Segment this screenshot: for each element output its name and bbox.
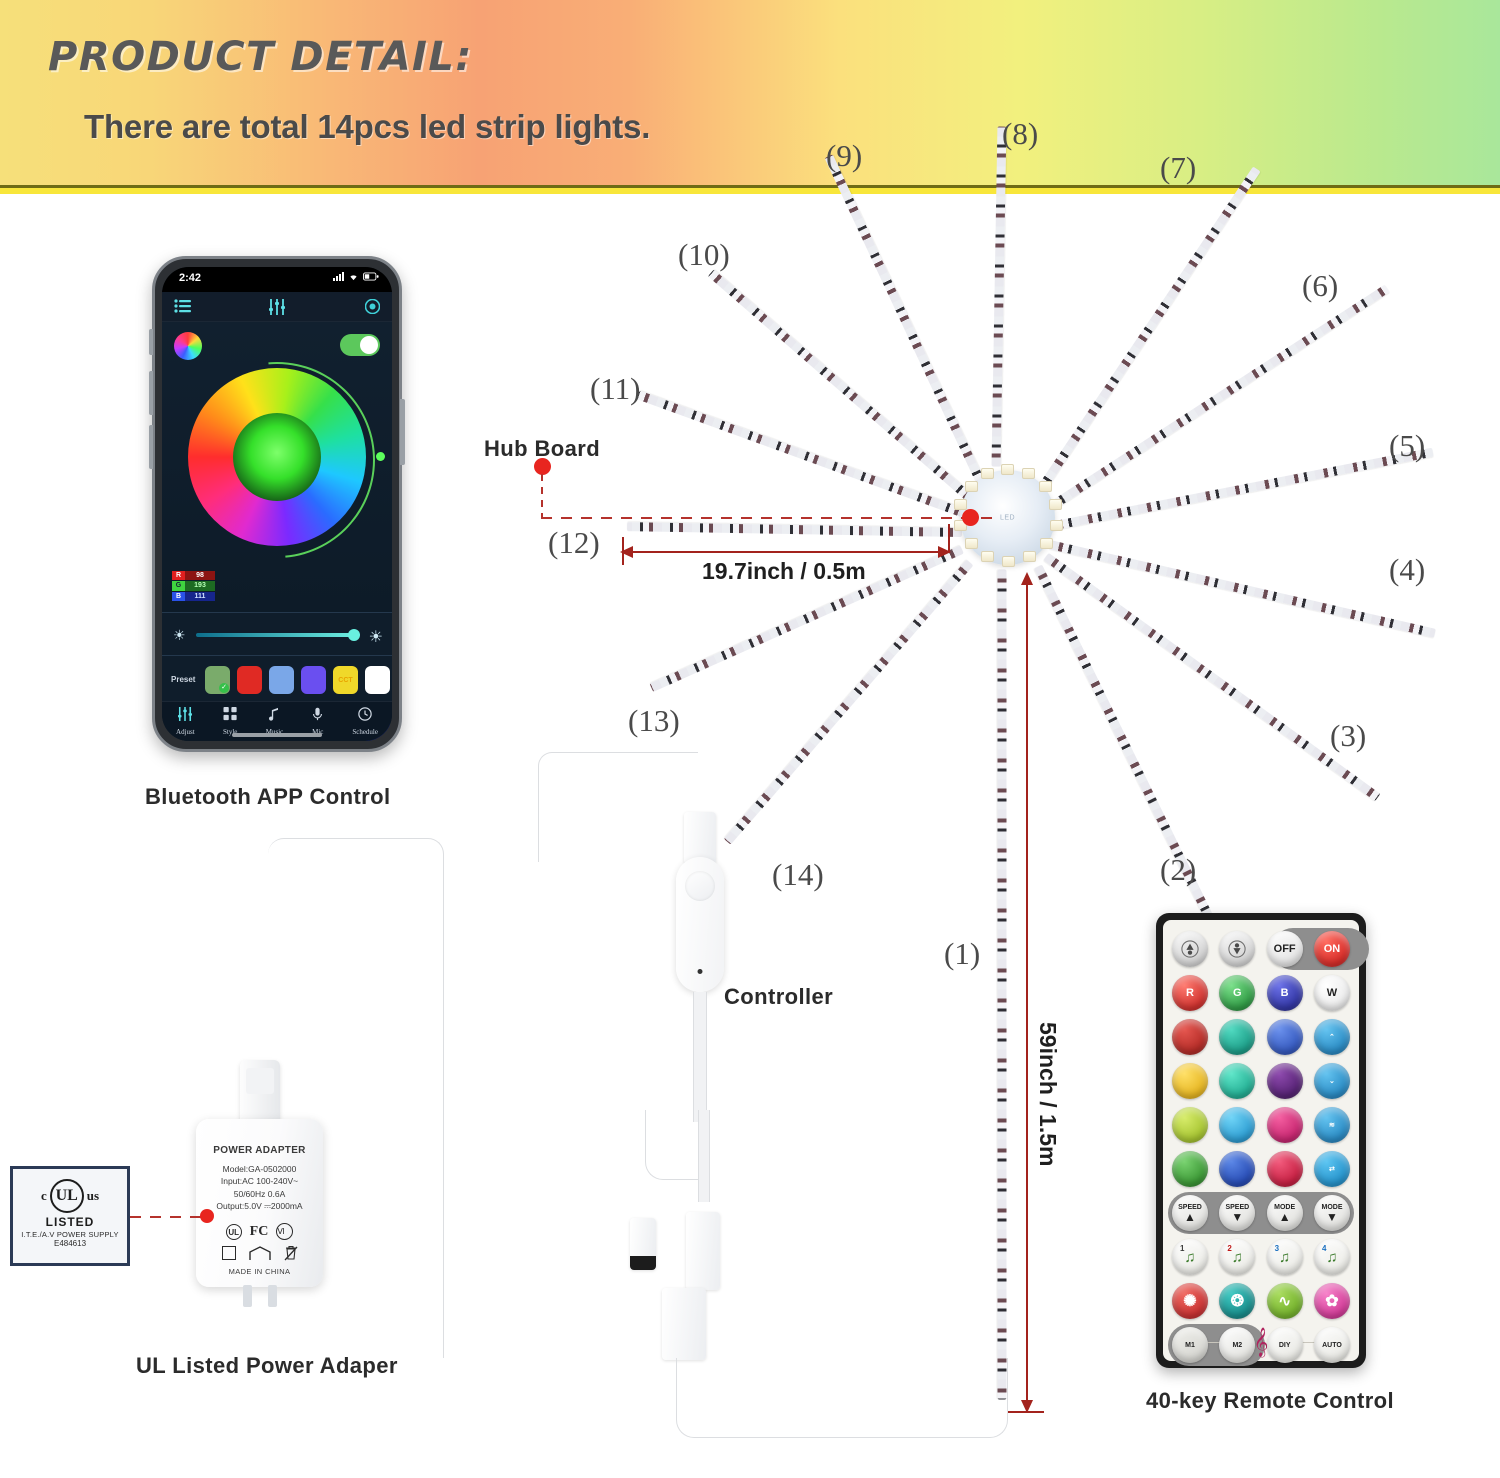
ul-listed-text: LISTED <box>17 1215 123 1229</box>
hub-led <box>1040 538 1053 549</box>
preset-label: Preset <box>171 675 195 684</box>
color-button[interactable] <box>1267 1063 1303 1099</box>
sliders-icon <box>177 707 193 721</box>
hub-led <box>965 538 978 549</box>
rgb-key-r: R <box>172 571 185 580</box>
measure-h-text: 19.7inch / 0.5m <box>702 558 866 585</box>
color-button[interactable] <box>1267 1019 1303 1055</box>
controller-wire-split-left <box>645 1110 699 1180</box>
led-strip-14 <box>724 560 974 845</box>
rgb-row-blue: B 111 <box>172 592 215 601</box>
tab-adjust[interactable]: Adjust <box>176 707 195 736</box>
phone-caption: Bluetooth APP Control <box>145 784 391 810</box>
strip-label-12: (12) <box>548 525 600 561</box>
hub-led <box>1023 551 1036 562</box>
strip-label-7: (7) <box>1160 150 1196 186</box>
color-button[interactable] <box>1219 1019 1255 1055</box>
led-strip-10 <box>708 269 978 505</box>
strip-label-13: (13) <box>628 703 680 739</box>
list-icon[interactable] <box>174 299 192 318</box>
rgb-row-green: G 193 <box>172 581 215 590</box>
rgb-readout: R 98 G 193 B 111 <box>172 571 215 602</box>
weee-mark-icon <box>284 1245 298 1261</box>
hub-led <box>1050 520 1063 531</box>
ul-mark-icon: UL <box>226 1224 242 1240</box>
sliders-icon[interactable] <box>268 299 286 320</box>
remote-face: OFF ON R G B W ⌃ ⌄ <box>1163 920 1359 1361</box>
auto-button[interactable]: AUTO <box>1314 1327 1350 1363</box>
hub-led <box>965 481 978 492</box>
mode-up-button[interactable]: MODE▲ <box>1267 1195 1303 1231</box>
remote-row-rgbw: R G B W <box>1172 975 1350 1011</box>
rgb-key-g: G <box>172 581 185 590</box>
music-mode-2-button[interactable]: ♫2 <box>1219 1239 1255 1275</box>
rgb-key-b: B <box>172 592 185 601</box>
adapter-caption: UL Listed Power Adaper <box>136 1353 398 1379</box>
brightness-low-icon: ☀ <box>173 627 186 644</box>
fade-down-icon[interactable]: ⌄ <box>1314 1063 1350 1099</box>
music-mode-1-button[interactable]: ♫1 <box>1172 1239 1208 1275</box>
phone-power-button[interactable] <box>400 399 405 465</box>
blue-button[interactable]: B <box>1267 975 1303 1011</box>
ul-listed-badge: c UL us LISTED I.T.E./A.V POWER SUPPLY E… <box>10 1166 130 1266</box>
remote-row-color-4: ⌄ <box>1172 1063 1350 1099</box>
adapter-line-freq: 50/60Hz 0.6A <box>196 1188 323 1200</box>
header-banner: PRODUCT DETAIL: There are total 14pcs le… <box>0 0 1500 190</box>
remote-row-power: OFF ON <box>1172 931 1350 967</box>
color-button[interactable] <box>1267 1151 1303 1187</box>
strip-label-10: (10) <box>678 237 730 273</box>
rgb-row-red: R 98 <box>172 571 215 580</box>
remote-row-speed-mode: SPEED▲ SPEED▼ MODE▲ MODE▼ <box>1172 1195 1350 1231</box>
adapter-origin: MADE IN CHINA <box>196 1267 323 1276</box>
led-strip-7 <box>1032 167 1260 500</box>
measure-h-line <box>622 551 950 553</box>
preset-swatch-list: ✓ CCT <box>205 666 390 694</box>
ul-leader-dot <box>200 1209 214 1223</box>
phone-mockup: 2:42 <box>152 256 402 752</box>
strip-label-9: (9) <box>826 138 862 174</box>
strip-label-2: (2) <box>1160 852 1196 888</box>
hub-chip-label: LED <box>1000 514 1015 521</box>
tab-label: Schedule <box>352 728 378 736</box>
remote-row-music: ♫1 ♫2 ♫3 ♫4 <box>1172 1239 1350 1275</box>
power-adapter: POWER ADAPTER Model:GA-0502000 Input:AC … <box>196 1119 323 1287</box>
usb-male-connector <box>630 1218 656 1270</box>
power-toggle[interactable] <box>340 334 380 356</box>
strip-label-6: (6) <box>1302 268 1338 304</box>
strip-label-11: (11) <box>590 371 641 407</box>
phone-notch <box>229 267 325 285</box>
hub-led <box>1049 499 1062 510</box>
color-button[interactable] <box>1219 1151 1255 1187</box>
controller-wire-upper <box>538 752 698 862</box>
measure-v-endcap <box>1008 1411 1044 1413</box>
color-button[interactable] <box>1172 1019 1208 1055</box>
hub-led <box>1022 468 1035 479</box>
ring-icon[interactable]: ❂ <box>1219 1283 1255 1319</box>
remote-row-color-3: ⌃ <box>1172 1019 1350 1055</box>
power-icon[interactable] <box>365 299 380 319</box>
adapter-title: POWER ADAPTER <box>196 1145 323 1156</box>
led-strip-12 <box>627 522 962 537</box>
tab-style[interactable]: Style <box>223 707 238 736</box>
remote-row-color-6: ⇄ <box>1172 1151 1350 1187</box>
rgb-value-r: 98 <box>185 571 215 580</box>
adapter-line-output: Output:5.0V ⎓2000mA <box>196 1200 323 1212</box>
measure-v-text: 59inch / 1.5m <box>1034 1022 1061 1166</box>
preset-row: Preset ✓ CCT <box>162 656 392 706</box>
color-wheel[interactable] <box>188 368 366 546</box>
brightness-row: ☀ ☀ <box>162 613 392 655</box>
white-button[interactable]: W <box>1314 975 1350 1011</box>
brightness-slider[interactable] <box>196 633 358 637</box>
measure-h-arrow-left <box>620 546 633 558</box>
diy-button[interactable]: DIY <box>1267 1327 1303 1363</box>
led-strip-9 <box>825 154 990 493</box>
phone-volume-up-button[interactable] <box>149 371 153 415</box>
battery-icon <box>363 272 379 281</box>
speed-up-button[interactable]: SPEED▲ <box>1172 1195 1208 1231</box>
flash-icon[interactable]: ≋ <box>1314 1107 1350 1143</box>
led-strip-3 <box>1043 553 1380 801</box>
preset-swatch[interactable] <box>237 666 262 694</box>
ul-mark-row: c UL us <box>17 1179 123 1213</box>
jump-icon[interactable]: ⇄ <box>1314 1151 1350 1187</box>
measure-v-arrow-up <box>1021 572 1033 585</box>
tab-label: Adjust <box>176 728 195 736</box>
remote-control: OFF ON R G B W ⌃ ⌄ <box>1156 913 1366 1368</box>
ul-prefix: c <box>41 1188 47 1204</box>
class2-mark-icon <box>222 1246 236 1260</box>
app-toolbar <box>162 292 392 322</box>
adapter-line-model: Model:GA-0502000 <box>196 1163 323 1175</box>
controller-output-wire <box>676 1358 1008 1438</box>
red-button[interactable]: R <box>1172 975 1208 1011</box>
hub-target-dot <box>962 509 979 526</box>
strip-label-3: (3) <box>1330 718 1366 754</box>
brightness-high-icon: ☀ <box>369 627 383 647</box>
tab-schedule[interactable]: Schedule <box>352 707 378 736</box>
color-button[interactable] <box>1172 1063 1208 1099</box>
clock-icon <box>358 707 372 721</box>
preset-swatch[interactable]: ✓ <box>205 666 230 694</box>
grid-icon <box>223 707 238 721</box>
fade-up-icon[interactable]: ⌃ <box>1314 1019 1350 1055</box>
controller-body[interactable] <box>676 857 724 992</box>
hub-callout-leader-v <box>541 474 543 518</box>
controller-button[interactable] <box>685 871 715 901</box>
phone-mute-button[interactable] <box>149 329 153 355</box>
controller-wire-split-right <box>698 1110 710 1202</box>
ul-category: I.T.E./A.V POWER SUPPLY <box>17 1230 123 1239</box>
prong <box>243 1285 252 1307</box>
ul-symbol: UL <box>50 1179 84 1213</box>
brightness-up-icon[interactable] <box>1172 931 1208 967</box>
color-palette-button[interactable] <box>174 332 202 360</box>
status-icons <box>333 272 379 281</box>
remote-row-color-5: ≋ <box>1172 1107 1350 1143</box>
color-button[interactable] <box>1267 1107 1303 1143</box>
jst-connector <box>662 1288 706 1360</box>
check-icon: ✓ <box>219 683 229 693</box>
preset-swatch[interactable] <box>301 666 326 694</box>
signal-icon <box>333 272 344 281</box>
led-strip-4 <box>1049 540 1436 638</box>
color-button[interactable] <box>1219 1107 1255 1143</box>
on-button[interactable]: ON <box>1314 931 1350 967</box>
ul-leader-line <box>130 1216 206 1218</box>
speed-down-button[interactable]: SPEED▼ <box>1219 1195 1255 1231</box>
hub-led <box>981 468 994 479</box>
music-mode-4-button[interactable]: ♫4 <box>1314 1239 1350 1275</box>
remote-row-effects: ✺ ❂ ∿ ✿ <box>1172 1283 1350 1319</box>
color-button[interactable] <box>1219 1063 1255 1099</box>
vi-mark-icon: Ⅵ <box>276 1223 293 1240</box>
phone-volume-down-button[interactable] <box>149 425 153 469</box>
hub-callout-leader-h <box>541 517 1001 519</box>
color-wheel-panel: R 98 G 193 B 111 <box>162 322 392 612</box>
strip-label-1: (1) <box>944 936 980 972</box>
hub-led <box>1002 556 1015 567</box>
preset-swatch-cct[interactable]: CCT <box>333 666 358 694</box>
strip-label-14: (14) <box>772 857 824 893</box>
brightness-knob[interactable] <box>348 629 360 641</box>
page-subtitle: There are total 14pcs led strip lights. <box>84 108 650 146</box>
ul-file-number: E484613 <box>17 1239 123 1248</box>
music-icon <box>267 707 282 721</box>
wave-icon[interactable]: ∿ <box>1267 1283 1303 1319</box>
home-indicator <box>232 733 322 737</box>
led-strip-6 <box>1043 285 1390 515</box>
hub-led <box>1001 464 1014 475</box>
page-title: PRODUCT DETAIL: <box>48 34 473 80</box>
music-mode-3-button[interactable]: ♫3 <box>1267 1239 1303 1275</box>
strip-label-8: (8) <box>1002 116 1038 152</box>
color-button[interactable] <box>1172 1151 1208 1187</box>
preset-swatch[interactable] <box>269 666 294 694</box>
controller-wire-lower <box>693 992 707 1122</box>
female-connector <box>686 1212 720 1290</box>
mic-icon <box>311 707 324 721</box>
green-button[interactable]: G <box>1219 975 1255 1011</box>
led-strip-1 <box>998 570 1007 1400</box>
controller-indicator-led <box>698 969 703 974</box>
arc-knob[interactable] <box>376 452 385 461</box>
adapter-line-input: Input:AC 100-240V~ <box>196 1175 323 1187</box>
memory-1-button[interactable]: M1 <box>1172 1327 1208 1363</box>
hub-callout-dot <box>534 458 551 475</box>
led-strip-11 <box>637 391 969 519</box>
hub-led <box>981 551 994 562</box>
color-preview <box>233 413 321 501</box>
brightness-down-icon[interactable] <box>1219 931 1255 967</box>
measure-h-endcap-right <box>948 524 950 552</box>
hub-led <box>1039 481 1052 492</box>
spiral-icon[interactable]: ✿ <box>1314 1283 1350 1319</box>
prong <box>268 1285 277 1307</box>
tab-mic[interactable]: Mic <box>311 707 324 736</box>
adapter-prongs <box>243 1285 277 1307</box>
rgb-value-g: 193 <box>185 581 215 590</box>
tab-music[interactable]: Music <box>266 707 284 736</box>
product-detail-page: PRODUCT DETAIL: There are total 14pcs le… <box>0 0 1500 1478</box>
burst-icon[interactable]: ✺ <box>1172 1283 1208 1319</box>
remote-caption: 40-key Remote Control <box>1146 1388 1394 1414</box>
hub-led <box>954 499 967 510</box>
memory-2-button[interactable]: M2 <box>1219 1327 1255 1363</box>
color-button[interactable] <box>1172 1107 1208 1143</box>
ul-suffix: us <box>87 1188 99 1204</box>
strip-label-5: (5) <box>1389 428 1425 464</box>
measure-v-line <box>1026 580 1028 1408</box>
rgb-value-b: 111 <box>185 592 215 601</box>
preset-swatch[interactable] <box>365 666 390 694</box>
led-strip-5 <box>1049 448 1434 531</box>
mode-down-button[interactable]: MODE▼ <box>1314 1195 1350 1231</box>
usb-plug <box>240 1060 280 1122</box>
wifi-icon <box>348 272 359 281</box>
status-time: 2:42 <box>179 272 201 284</box>
controller-caption: Controller <box>724 984 833 1010</box>
house-mark-icon <box>249 1246 271 1261</box>
phone-screen: 2:42 <box>162 267 392 741</box>
fcc-mark-icon: FC <box>250 1224 269 1240</box>
cct-label: CCT <box>333 666 358 694</box>
strip-label-4: (4) <box>1389 552 1425 588</box>
off-button[interactable]: OFF <box>1267 931 1303 967</box>
